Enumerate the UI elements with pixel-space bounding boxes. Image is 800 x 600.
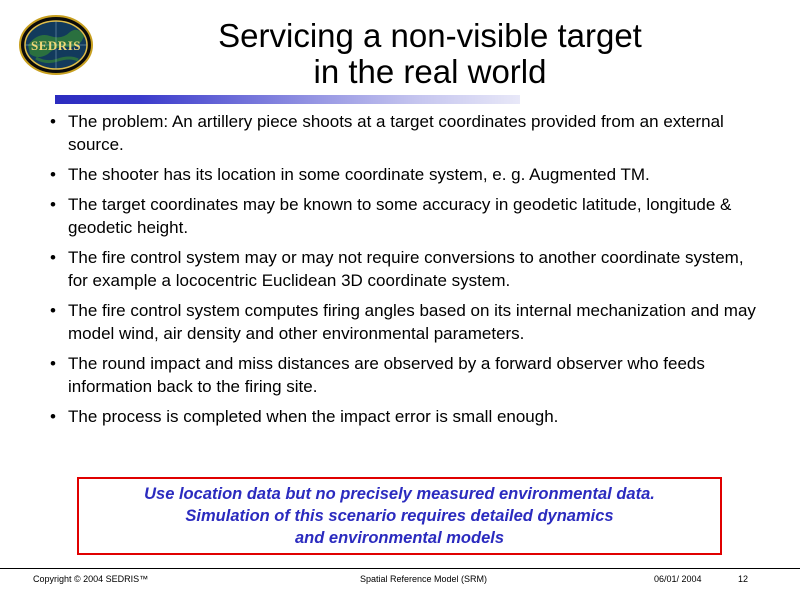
callout-line-2: Simulation of this scenario requires det… — [185, 505, 613, 527]
list-item-text: The process is completed when the impact… — [68, 405, 766, 428]
list-item: • The process is completed when the impa… — [46, 405, 766, 428]
callout-line-1: Use location data but no precisely measu… — [144, 483, 655, 505]
list-item: • The round impact and miss distances ar… — [46, 352, 766, 398]
title-accent-bar — [55, 95, 520, 104]
list-item-text: The round impact and miss distances are … — [68, 352, 766, 398]
bullet-marker-icon: • — [46, 163, 68, 186]
svg-text:SEDRIS: SEDRIS — [31, 38, 81, 53]
footer-copyright: Copyright © 2004 SEDRIS™ — [33, 574, 148, 584]
bullet-marker-icon: • — [46, 246, 68, 269]
list-item-text: The fire control system computes firing … — [68, 299, 766, 345]
footer-title: Spatial Reference Model (SRM) — [360, 574, 487, 584]
list-item-text: The shooter has its location in some coo… — [68, 163, 766, 186]
footer-date: 06/01/ 2004 — [654, 574, 702, 584]
list-item: • The problem: An artillery piece shoots… — [46, 110, 766, 156]
bullet-marker-icon: • — [46, 110, 68, 133]
sedris-logo-icon: SEDRIS — [18, 14, 94, 76]
bullet-marker-icon: • — [46, 299, 68, 322]
footer-page-number: 12 — [738, 574, 748, 584]
list-item-text: The fire control system may or may not r… — [68, 246, 766, 292]
list-item-text: The target coordinates may be known to s… — [68, 193, 766, 239]
list-item: • The fire control system computes firin… — [46, 299, 766, 345]
bullet-marker-icon: • — [46, 352, 68, 375]
bullet-list: • The problem: An artillery piece shoots… — [46, 110, 766, 435]
list-item-text: The problem: An artillery piece shoots a… — [68, 110, 766, 156]
page-title-line1: Servicing a non-visible target — [100, 18, 760, 54]
bullet-marker-icon: • — [46, 193, 68, 216]
page-title: Servicing a non-visible target in the re… — [100, 18, 760, 90]
bullet-marker-icon: • — [46, 405, 68, 428]
callout-line-3: and environmental models — [295, 527, 504, 549]
page-title-line2: in the real world — [100, 54, 760, 90]
sedris-logo: SEDRIS — [18, 14, 94, 76]
list-item: • The shooter has its location in some c… — [46, 163, 766, 186]
callout-box: Use location data but no precisely measu… — [77, 477, 722, 555]
footer-divider — [0, 568, 800, 569]
list-item: • The target coordinates may be known to… — [46, 193, 766, 239]
list-item: • The fire control system may or may not… — [46, 246, 766, 292]
